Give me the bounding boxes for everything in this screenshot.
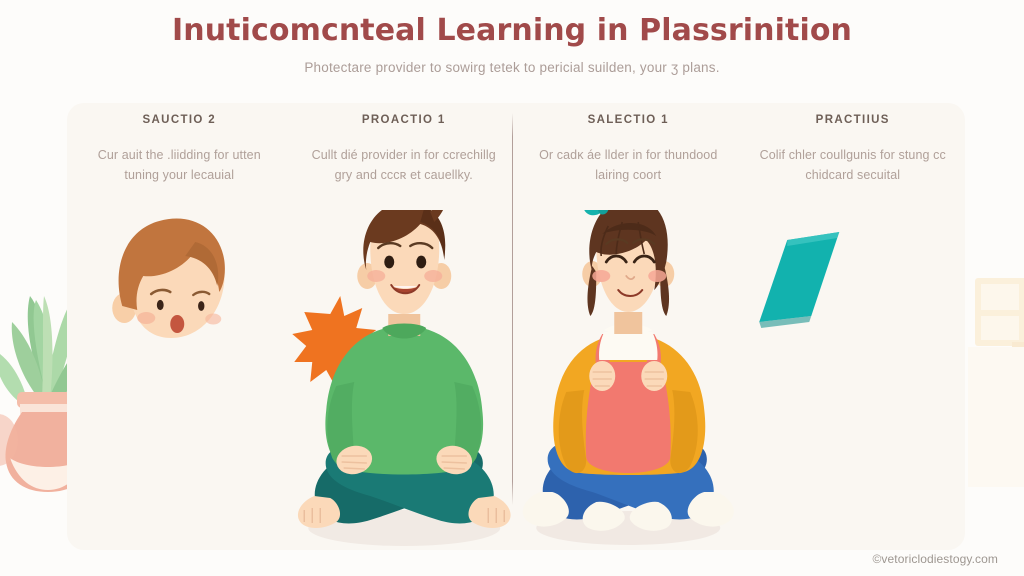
- wall-band: [968, 347, 1024, 487]
- child-girl-coral-overalls-illustration: [516, 210, 741, 550]
- child-head-boy-illustration: [67, 210, 292, 550]
- panel-2-header: PROACTIO 1: [292, 114, 517, 126]
- page-subtitle: Photectare provider to sowirg tetek to p…: [0, 60, 1024, 75]
- panel-4: PRACTIIUS Colif chler coullgunis for stu…: [741, 103, 966, 550]
- panel-1-body: Cur auit the .liidding for utten tuning …: [79, 145, 280, 186]
- panel-4-header: PRACTIIUS: [741, 114, 966, 126]
- parallelogram-shape: [759, 232, 839, 328]
- footer-credit: ©vetoriclodiestogy.com: [872, 552, 998, 566]
- panel-3-header: SALECTIO 1: [516, 114, 741, 126]
- page-title: Inuticomcnteal Learning in Plassrinition: [0, 13, 1024, 49]
- panel-3-body: Or cadĸ áe llder in for thundood lairing…: [528, 145, 729, 186]
- panel-2-body: Cullt dié provider in for ccrechillg gry…: [304, 145, 505, 186]
- panel-2: PROACTIO 1 Cullt dié provider in for ccr…: [292, 103, 517, 550]
- header: Inuticomcnteal Learning in Plassrinition…: [0, 0, 1024, 100]
- panel-4-body: Colif chler coullgunis for stung cc chid…: [753, 145, 954, 186]
- content-card: SAUCTIO 2 Cur auit the .liidding for utt…: [67, 103, 965, 550]
- panel-1: SAUCTIO 2 Cur auit the .liidding for utt…: [67, 103, 292, 550]
- panel-divider: [512, 113, 513, 505]
- window-icon: [975, 278, 1024, 347]
- panel-1-header: SAUCTIO 2: [67, 114, 292, 126]
- secondary-pot-icon: [0, 414, 18, 466]
- panel-3: SALECTIO 1 Or cadĸ áe llder in for thund…: [516, 103, 741, 550]
- child-boy-green-shirt-illustration: [292, 210, 517, 550]
- teal-parallelogram-illustration: [741, 210, 966, 550]
